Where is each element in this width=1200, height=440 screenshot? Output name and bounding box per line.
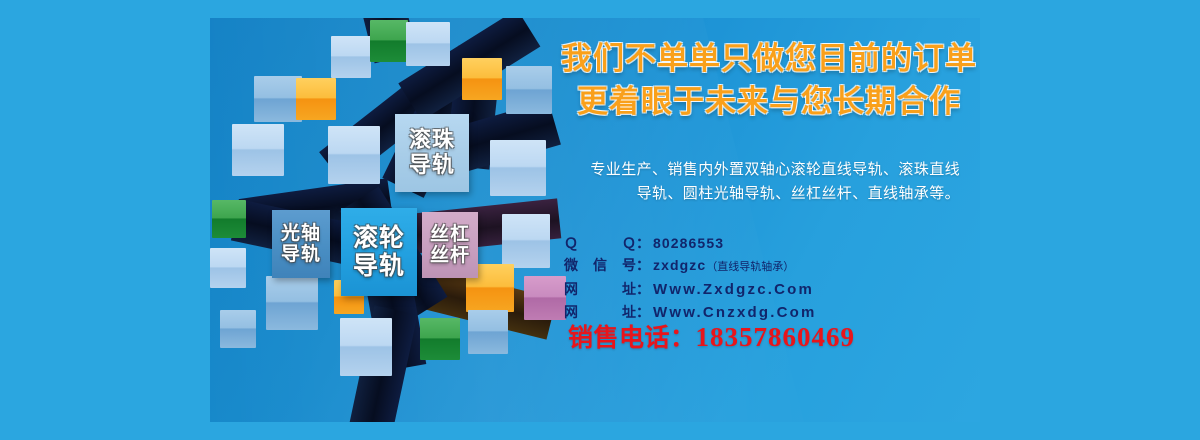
- flying-cube: [502, 214, 550, 268]
- cube-face: [502, 214, 550, 268]
- product-cube-label: 滚轮 导轨: [353, 224, 405, 280]
- product-cube-label: 丝杠 丝杆: [430, 224, 470, 267]
- cube-face: [420, 318, 460, 360]
- contact-label-qq: ＱＱ: [564, 232, 636, 254]
- cube-face: [266, 276, 318, 330]
- cube-face: [468, 310, 508, 354]
- contact-row-qq: ＱＱ ： 80286553: [558, 232, 980, 254]
- cube-face: [331, 36, 371, 78]
- cube-face: [462, 58, 502, 100]
- flying-cube: [212, 200, 246, 238]
- banner-copy: 我们不单单只做您目前的订单 更着眼于未来与您长期合作 专业生产、销售内外置双轴心…: [558, 18, 980, 422]
- contact-value-website-1[interactable]: Www.Zxdgzc.Com: [653, 279, 814, 301]
- flying-cube: [340, 318, 392, 376]
- subcopy-text: 专业生产、销售内外置双轴心滚轮直线导轨、滚珠直线导轨、圆柱光轴导轨、丝杠丝杆、直…: [578, 158, 960, 207]
- product-cube-sigang-sigan[interactable]: 丝杠 丝杆: [422, 212, 478, 278]
- flying-cube: [232, 124, 284, 176]
- flying-cube: [254, 76, 302, 122]
- flying-cube: [210, 248, 246, 288]
- promo-banner: 滚珠 导轨 光轴 导轨 滚轮 导轨 丝杠 丝杆: [210, 18, 980, 422]
- contact-colon: ：: [636, 232, 650, 254]
- flying-cube: [328, 126, 380, 184]
- cube-face: [232, 124, 284, 176]
- contact-label-website-1: 网址: [564, 278, 636, 300]
- flying-cube: [370, 20, 408, 62]
- contact-value-wechat[interactable]: zxdgzc: [653, 254, 706, 276]
- cube-face: [254, 76, 302, 122]
- contact-block: ＱＱ ： 80286553 微信号 ： zxdgzc （直线导轨轴承） 网址 ：…: [558, 232, 980, 324]
- cube-face: [340, 318, 392, 376]
- headline-line-1: 我们不单单只做您目前的订单: [561, 41, 977, 76]
- contact-colon: ：: [636, 278, 650, 300]
- flying-cube: [420, 318, 460, 360]
- flying-cube: [331, 36, 371, 78]
- flying-cube: [468, 310, 508, 354]
- cube-face: [220, 310, 256, 348]
- sales-phone[interactable]: 销售电话：18357860469: [558, 318, 980, 354]
- sales-phone-label: 销售电话：: [568, 324, 696, 352]
- flying-cube: [266, 276, 318, 330]
- flying-cube: [462, 58, 502, 100]
- cube-face: [296, 78, 336, 120]
- flying-cube: [490, 140, 546, 196]
- sales-phone-number[interactable]: 18357860469: [696, 322, 856, 352]
- flying-cube: [220, 310, 256, 348]
- cube-face: [490, 140, 546, 196]
- contact-note-wechat: （直线导轨轴承）: [706, 256, 794, 278]
- page-root: 滚珠 导轨 光轴 导轨 滚轮 导轨 丝杠 丝杆: [0, 0, 1200, 440]
- product-cube-label: 光轴 导轨: [281, 223, 321, 266]
- cube-face: [370, 20, 408, 62]
- exploding-cubes-artwork: 滚珠 导轨 光轴 导轨 滚轮 导轨 丝杠 丝杆: [210, 18, 570, 422]
- contact-value-qq[interactable]: 80286553: [653, 232, 724, 254]
- flying-cube: [506, 66, 552, 114]
- flying-cube: [406, 22, 450, 66]
- cube-face: [210, 248, 246, 288]
- product-cube-gunzhu-daogui[interactable]: 滚珠 导轨: [395, 114, 469, 192]
- cube-face: [212, 200, 246, 238]
- product-cube-gunlun-daogui[interactable]: 滚轮 导轨: [341, 208, 417, 296]
- contact-colon: ：: [636, 254, 650, 276]
- headline-line-2: 更着眼于未来与您长期合作: [558, 81, 980, 124]
- product-cube-guangzhou-daogui[interactable]: 光轴 导轨: [272, 210, 330, 278]
- contact-row-website-1: 网址 ： Www.Zxdgzc.Com: [558, 278, 980, 301]
- cube-face: [406, 22, 450, 66]
- flying-cube: [296, 78, 336, 120]
- contact-label-wechat: 微信号: [564, 254, 636, 276]
- cube-face: [328, 126, 380, 184]
- contact-row-wechat: 微信号 ： zxdgzc （直线导轨轴承）: [558, 254, 980, 278]
- cube-face: [506, 66, 552, 114]
- headline: 我们不单单只做您目前的订单 更着眼于未来与您长期合作: [558, 38, 980, 124]
- product-cube-label: 滚珠 导轨: [409, 128, 455, 177]
